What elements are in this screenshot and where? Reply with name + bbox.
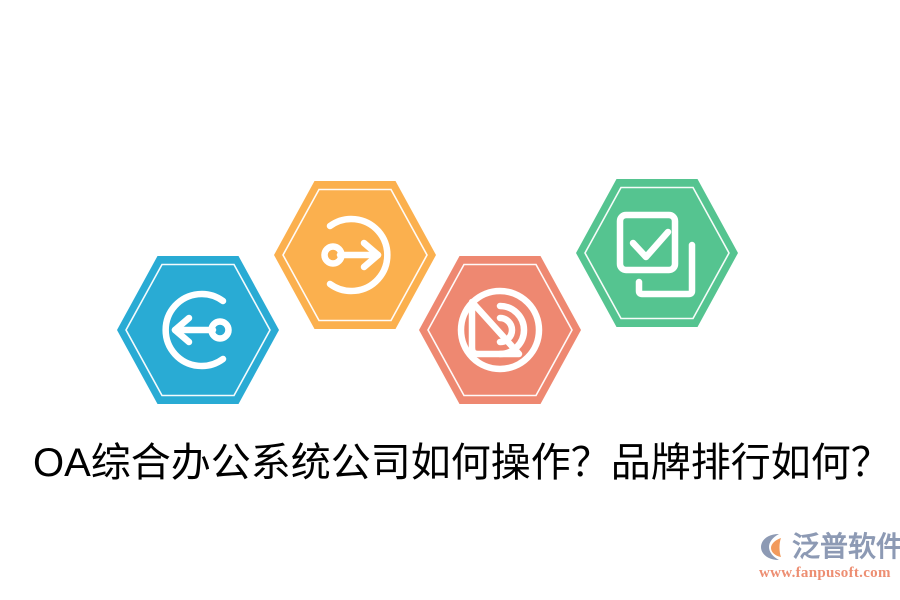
hexagon-icon-cluster — [0, 0, 900, 440]
hexagon-sign-in — [117, 256, 279, 404]
page-title: OA综合办公系统公司如何操作？品牌排行如何？ — [33, 437, 867, 489]
brand-name: 泛普软件 — [792, 531, 900, 563]
hexagon-sign-out — [274, 181, 436, 329]
brand-watermark: 泛普软件 www.fanpusoft.com — [757, 528, 892, 586]
hexagon-shape — [576, 179, 738, 327]
brand-url: www.fanpusoft.com — [759, 565, 892, 582]
hexagon-checklist — [576, 179, 738, 327]
brand-row: 泛普软件 — [757, 528, 892, 566]
hexagon-broadcast — [419, 256, 581, 404]
image-canvas: OA综合办公系统公司如何操作？品牌排行如何？ 泛普软件 www.fanpusof… — [0, 0, 900, 600]
fanpu-logo-mark-icon — [757, 531, 789, 563]
logo-swoosh — [771, 538, 781, 557]
